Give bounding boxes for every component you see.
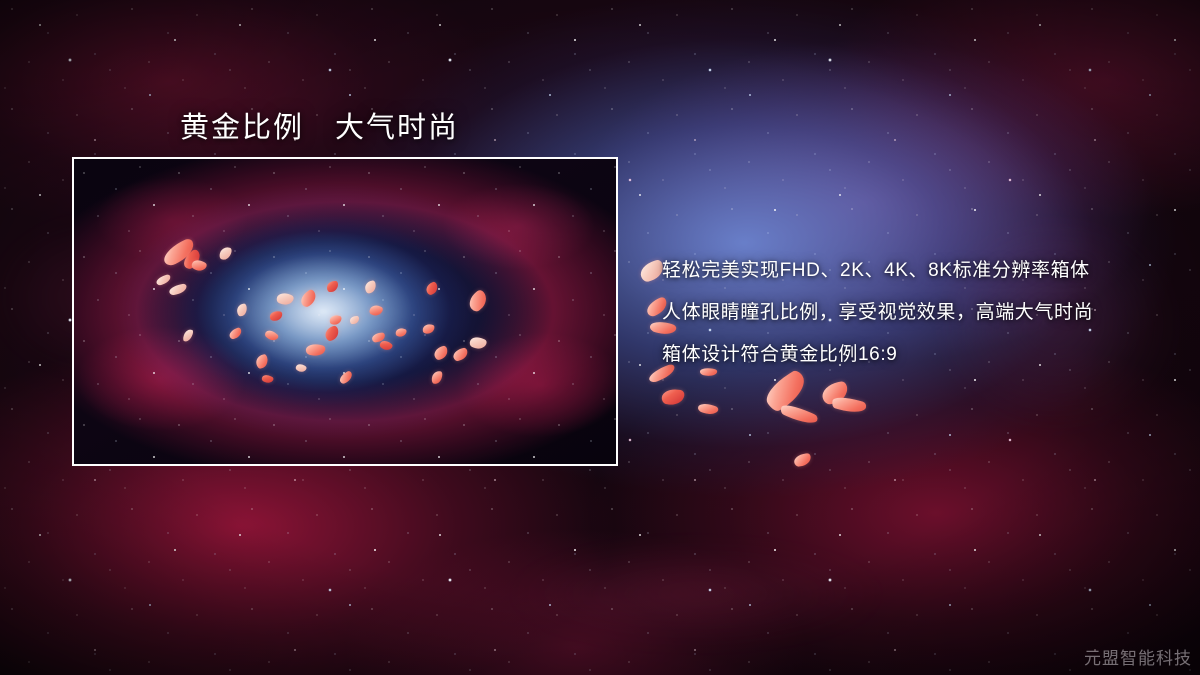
- body-line: 人体眼睛瞳孔比例，享受视觉效果，高端大气时尚: [662, 292, 1162, 334]
- body-line: 轻松完美实现FHD、2K、4K、8K标准分辨率箱体: [662, 250, 1162, 292]
- watermark: 元盟智能科技: [1084, 644, 1192, 669]
- petal-icon: [831, 394, 868, 417]
- framed-photo: [72, 157, 618, 466]
- petal-icon: [779, 401, 819, 428]
- petal-icon: [697, 401, 719, 417]
- slide-title: 黄金比例 大气时尚: [180, 104, 459, 146]
- presentation-slide: 黄金比例 大气时尚 轻松完美实现FHD、2K、4K、8K标准分辨率箱体 人体眼睛…: [0, 0, 1200, 675]
- petal-icon: [793, 453, 812, 467]
- petal-icon: [661, 388, 685, 407]
- body-line: 箱体设计符合黄金比例16:9: [662, 334, 1162, 376]
- photo-core-glow: [74, 159, 616, 464]
- body-copy: 轻松完美实现FHD、2K、4K、8K标准分辨率箱体 人体眼睛瞳孔比例，享受视觉效…: [662, 250, 1162, 376]
